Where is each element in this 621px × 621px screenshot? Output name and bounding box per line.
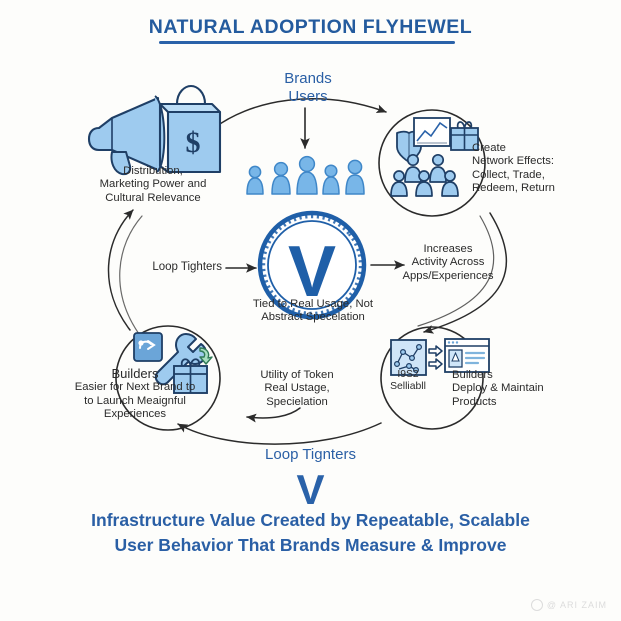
label-builders-right-sublabel: I9S2 Selliabll — [366, 369, 450, 394]
label-network-effects: Create Network Effects: Collect, Trade, … — [472, 142, 584, 195]
label-loop-tighteners-bottom: Loop Tignters — [0, 446, 621, 464]
svg-text:$: $ — [186, 126, 201, 159]
arc-builders-to-builders — [178, 423, 381, 444]
page-title: NATURAL ADOPTION FLYHEWEL — [0, 16, 621, 39]
node-distribution-icons: $ — [89, 86, 220, 174]
arrow-utility-inbound — [247, 408, 300, 418]
watermark: @ ARI ZAIM — [531, 599, 607, 611]
label-coin-caption: Tied to Real Usage, Not Abstract Specela… — [230, 298, 396, 325]
node-network-circle — [379, 110, 485, 216]
infographic-canvas: $ — [0, 0, 621, 621]
people-row-users — [247, 157, 364, 194]
label-loop-tighteners-left: Loop Tighters — [130, 261, 222, 275]
label-builders-left-sublabel: Easier for Next Brand to to Launch Meaig… — [54, 381, 216, 421]
label-users: Users — [248, 88, 368, 106]
label-distribution: Distribution, Marketing Power and Cultur… — [78, 165, 228, 205]
label-builders-left: Builders Easier for Next Brand to to Lau… — [54, 366, 216, 421]
watermark-logo-icon — [531, 599, 543, 611]
label-builders-right: Builders Deploy & Maintain Products — [452, 369, 548, 409]
label-increases-activity: Increases Activity Across Apps/Experienc… — [396, 243, 500, 283]
label-brands: Brands — [248, 70, 368, 88]
bottom-caption: Infrastructure Value Created by Repeatab… — [55, 508, 566, 559]
label-utility-of-token: Utility of Token Real Ustage, Specielati… — [232, 369, 362, 409]
label-brands-users: Brands Users — [248, 70, 368, 105]
label-builders-left-title: Builders — [54, 366, 216, 381]
title-underline — [159, 41, 455, 44]
watermark-text: @ ARI ZAIM — [547, 600, 607, 610]
